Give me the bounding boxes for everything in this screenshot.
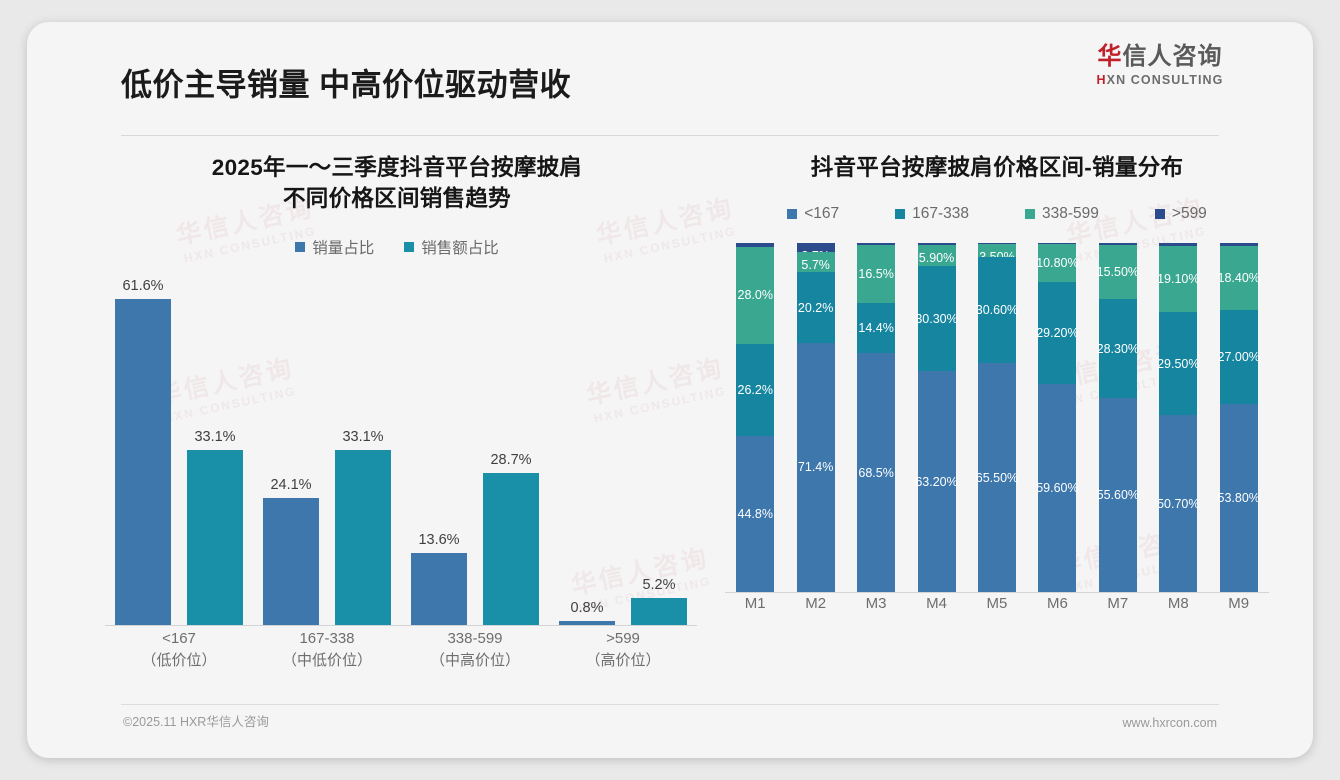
x-axis-tick: <167（低价位） [105, 628, 253, 672]
brand-logo: 华信人咨询 HXN CONSULTING [1075, 44, 1245, 87]
x-axis-tick: M4 [906, 595, 966, 612]
right-chart-legend-item[interactable]: 167-338 [895, 205, 969, 223]
legend-label: 338-599 [1042, 205, 1099, 223]
bar-column[interactable]: 13.6% [411, 276, 467, 625]
footer-copyright: ©2025.11 HXR华信人咨询 [123, 711, 269, 730]
slide-card: 华信人咨询 HXN CONSULTING 华信人咨询 HXN CONSULTIN… [27, 22, 1313, 758]
stacked-segment[interactable]: 20.2% [797, 272, 835, 343]
bar-column[interactable]: 24.1% [263, 276, 319, 625]
stacked-bar[interactable]: 2.7%5.7%20.2%71.4% [797, 243, 835, 592]
legend-label: 销量占比 [312, 236, 374, 258]
segment-value-label: 20.2% [798, 301, 833, 315]
bar-value-label: 0.8% [570, 600, 603, 616]
bar-value-label: 33.1% [342, 429, 383, 445]
legend-swatch-icon [1025, 209, 1035, 219]
stacked-segment[interactable]: 16.5% [857, 245, 895, 303]
segment-value-label: 27.00% [1218, 350, 1260, 364]
slide-root: 华信人咨询 HXN CONSULTING 华信人咨询 HXN CONSULTIN… [0, 0, 1340, 780]
segment-value-label: 65.50% [976, 471, 1018, 485]
stacked-segment[interactable]: 28.0% [736, 247, 774, 345]
bar-value-label: 28.7% [490, 452, 531, 468]
tick-label-sub: （中高价位） [401, 650, 549, 672]
segment-value-label: 44.8% [737, 507, 772, 521]
legend-swatch-icon [1155, 209, 1165, 219]
x-axis-tick: M9 [1209, 595, 1269, 612]
grouped-bar-chart: 61.6%33.1%24.1%33.1%13.6%28.7%0.8%5.2% <… [87, 276, 707, 626]
segment-value-label: 55.60% [1097, 488, 1139, 502]
x-axis-tick: M1 [725, 595, 785, 612]
tick-label-main: >599 [549, 628, 697, 650]
stacked-segment[interactable]: 30.30% [918, 266, 956, 372]
legend-swatch-icon [404, 242, 414, 252]
x-axis-tick: 167-338（中低价位） [253, 628, 401, 672]
segment-value-label: 19.10% [1157, 272, 1199, 286]
left-chart-title-line2: 不同价格区间销售趋势 [87, 183, 707, 214]
stacked-segment[interactable]: 26.2% [736, 344, 774, 435]
left-chart-panel: 2025年一～三季度抖音平台按摩披肩 不同价格区间销售趋势 销量占比销售额占比 … [87, 152, 707, 626]
x-axis-line [105, 625, 697, 626]
stacked-segment[interactable]: 55.60% [1099, 398, 1137, 592]
stacked-segment[interactable]: 44.8% [736, 436, 774, 592]
stacked-segment[interactable]: 19.10% [1159, 246, 1197, 313]
stacked-segment[interactable]: 27.00% [1220, 310, 1258, 404]
bar-column[interactable]: 28.7% [483, 276, 539, 625]
stacked-segment[interactable]: 63.20% [918, 371, 956, 592]
stacked-bar[interactable]: 0.60%15.50%28.30%55.60% [1099, 243, 1137, 592]
x-axis-line [725, 592, 1269, 593]
left-chart-legend-item[interactable]: 销售额占比 [404, 236, 499, 258]
bar-column[interactable]: 33.1% [335, 276, 391, 625]
bar-value-label: 61.6% [122, 278, 163, 294]
legend-label: 销售额占比 [421, 236, 499, 258]
stacked-bar[interactable]: 0.80%19.10%29.50%50.70% [1159, 243, 1197, 592]
segment-value-label: 29.50% [1157, 357, 1199, 371]
stacked-segment[interactable]: 5.90% [918, 245, 956, 266]
bar[interactable] [187, 450, 243, 625]
segment-value-label: 16.5% [858, 267, 893, 281]
left-chart-title: 2025年一～三季度抖音平台按摩披肩 不同价格区间销售趋势 [87, 152, 707, 214]
bar-value-label: 13.6% [418, 532, 459, 548]
segment-value-label: 14.4% [858, 321, 893, 335]
footer-website: www.hxrcon.com [1123, 716, 1217, 730]
stacked-segment[interactable]: 15.50% [1099, 245, 1137, 299]
tick-label-main: 338-599 [401, 628, 549, 650]
stacked-segment[interactable]: 50.70% [1159, 415, 1197, 592]
bar-column[interactable]: 0.8% [559, 276, 615, 625]
x-axis-tick: 338-599（中高价位） [401, 628, 549, 672]
segment-value-label: 15.50% [1097, 265, 1139, 279]
stacked-segment[interactable]: 71.4% [797, 343, 835, 592]
stacked-segment[interactable]: 10.80% [1038, 244, 1076, 282]
x-axis-tick: M7 [1088, 595, 1148, 612]
bar-column[interactable]: 0.40%10.80%29.20%59.60% [1027, 243, 1087, 592]
logo-en-rest: XN CONSULTING [1107, 73, 1224, 87]
bar-group: 13.6%28.7% [401, 276, 549, 625]
segment-value-label: 28.30% [1097, 342, 1139, 356]
left-chart-legend: 销量占比销售额占比 [87, 236, 707, 258]
tick-label-sub: （低价位） [105, 650, 253, 672]
x-axis-tick: M5 [967, 595, 1027, 612]
segment-value-label: 5.7% [801, 258, 830, 272]
stacked-bar[interactable]: 0.40%10.80%29.20%59.60% [1038, 243, 1076, 592]
stacked-segment[interactable]: 53.80% [1220, 404, 1258, 592]
bar[interactable] [115, 299, 171, 625]
bar-value-label: 5.2% [642, 577, 675, 593]
bar-value-label: 33.1% [194, 429, 235, 445]
stacked-segment[interactable]: 68.5% [857, 353, 895, 592]
bar-column[interactable]: 0.40%3.50%30.60%65.50% [967, 243, 1027, 592]
tick-label-main: <167 [105, 628, 253, 650]
left-chart-legend-item[interactable]: 销量占比 [295, 236, 374, 258]
stacked-bar-chart: 1.0%28.0%26.2%44.8%2.7%5.7%20.2%71.4%0.6… [717, 243, 1277, 593]
x-axis-tick: >599（高价位） [549, 628, 697, 672]
grouped-plot-area: 61.6%33.1%24.1%33.1%13.6%28.7%0.8%5.2% [105, 276, 697, 626]
right-chart-panel: 抖音平台按摩披肩价格区间-销量分布 <167167-338338-599>599… [717, 152, 1277, 593]
legend-swatch-icon [787, 209, 797, 219]
stacked-segment[interactable]: 29.20% [1038, 282, 1076, 384]
stacked-bar[interactable]: 1.0%28.0%26.2%44.8% [736, 243, 774, 592]
slide-header: 低价主导销量 中高价位驱动营收 华信人咨询 HXN CONSULTING [27, 22, 1313, 99]
right-chart-legend-item[interactable]: 338-599 [1025, 205, 1099, 223]
bar-column[interactable]: 1.0%28.0%26.2%44.8% [725, 243, 785, 592]
segment-value-label: 18.40% [1218, 271, 1260, 285]
logo-cn-red: 华 [1098, 43, 1123, 70]
logo-english-text: HXN CONSULTING [1075, 73, 1245, 87]
segment-value-label: 68.5% [858, 466, 893, 480]
stacked-segment[interactable]: 29.50% [1159, 312, 1197, 415]
bar[interactable] [631, 598, 687, 625]
x-axis-tick-labels: <167（低价位）167-338（中低价位）338-599（中高价位）>599（… [105, 628, 697, 672]
header-divider [121, 135, 1219, 136]
right-chart-legend: <167167-338338-599>599 [717, 205, 1277, 223]
stacked-segment[interactable]: 59.60% [1038, 384, 1076, 592]
segment-value-label: 26.2% [737, 383, 772, 397]
x-axis-tick: M8 [1148, 595, 1208, 612]
bar-column[interactable]: 0.60%15.50%28.30%55.60% [1088, 243, 1148, 592]
right-chart-title: 抖音平台按摩披肩价格区间-销量分布 [717, 152, 1277, 183]
stacked-bar[interactable]: 0.60%5.90%30.30%63.20% [918, 243, 956, 592]
legend-label: 167-338 [912, 205, 969, 223]
logo-cn-rest: 信人咨询 [1123, 43, 1223, 70]
logo-en-red: H [1097, 73, 1107, 87]
segment-value-label: 5.90% [919, 251, 954, 265]
bar-group: 24.1%33.1% [253, 276, 401, 625]
x-axis-tick: M3 [846, 595, 906, 612]
legend-swatch-icon [895, 209, 905, 219]
stacked-segment[interactable]: 5.7% [797, 252, 835, 272]
bar-column[interactable]: 61.6% [115, 276, 171, 625]
bar-column[interactable]: 0.6%16.5%14.4%68.5% [846, 243, 906, 592]
right-chart-legend-item[interactable]: <167 [787, 205, 839, 223]
tick-label-sub: （高价位） [549, 650, 697, 672]
segment-value-label: 10.80% [1036, 256, 1078, 270]
bar-value-label: 24.1% [270, 477, 311, 493]
page-title: 低价主导销量 中高价位驱动营收 [121, 60, 571, 105]
left-chart-title-line1: 2025年一～三季度抖音平台按摩披肩 [87, 152, 707, 183]
segment-value-label: 29.20% [1036, 326, 1078, 340]
x-axis-tick-labels: M1M2M3M4M5M6M7M8M9 [725, 595, 1269, 612]
stacked-bar[interactable]: 0.6%16.5%14.4%68.5% [857, 243, 895, 592]
legend-label: >599 [1172, 205, 1207, 223]
logo-chinese-text: 华信人咨询 [1075, 44, 1245, 70]
segment-value-label: 59.60% [1036, 481, 1078, 495]
bar-column[interactable]: 0.80%18.40%27.00%53.80% [1209, 243, 1269, 592]
stacked-segment[interactable]: 2.7% [797, 243, 835, 252]
stacked-bar[interactable]: 0.40%3.50%30.60%65.50% [978, 243, 1016, 592]
bar-group: 0.8%5.2% [549, 276, 697, 625]
stacked-segment[interactable]: 65.50% [978, 363, 1016, 592]
bar[interactable] [335, 450, 391, 625]
segment-value-label: 28.0% [737, 288, 772, 302]
stacked-plot-area: 1.0%28.0%26.2%44.8%2.7%5.7%20.2%71.4%0.6… [725, 243, 1269, 593]
bar[interactable] [483, 473, 539, 625]
bar-column[interactable]: 2.7%5.7%20.2%71.4% [785, 243, 845, 592]
segment-value-label: 63.20% [915, 475, 957, 489]
right-chart-legend-item[interactable]: >599 [1155, 205, 1207, 223]
tick-label-main: 167-338 [253, 628, 401, 650]
segment-value-label: 30.60% [976, 303, 1018, 317]
bar-column[interactable]: 5.2% [631, 276, 687, 625]
bar-column[interactable]: 0.80%19.10%29.50%50.70% [1148, 243, 1208, 592]
bar[interactable] [411, 553, 467, 625]
x-axis-tick: M6 [1027, 595, 1087, 612]
legend-label: <167 [804, 205, 839, 223]
stacked-segment[interactable]: 30.60% [978, 257, 1016, 364]
segment-value-label: 30.30% [915, 312, 957, 326]
bar[interactable] [263, 498, 319, 625]
bar-column[interactable]: 0.60%5.90%30.30%63.20% [906, 243, 966, 592]
stacked-bar[interactable]: 0.80%18.40%27.00%53.80% [1220, 243, 1258, 592]
x-axis-tick: M2 [785, 595, 845, 612]
bar-column[interactable]: 33.1% [187, 276, 243, 625]
stacked-segment[interactable]: 3.50% [978, 244, 1016, 256]
stacked-segment[interactable]: 18.40% [1220, 246, 1258, 310]
segment-value-label: 53.80% [1218, 491, 1260, 505]
segment-value-label: 50.70% [1157, 497, 1199, 511]
bar-group: 61.6%33.1% [105, 276, 253, 625]
stacked-segment[interactable]: 14.4% [857, 303, 895, 353]
legend-swatch-icon [295, 242, 305, 252]
segment-value-label: 71.4% [798, 460, 833, 474]
tick-label-sub: （中低价位） [253, 650, 401, 672]
stacked-segment[interactable]: 28.30% [1099, 299, 1137, 398]
footer-divider [121, 704, 1219, 705]
